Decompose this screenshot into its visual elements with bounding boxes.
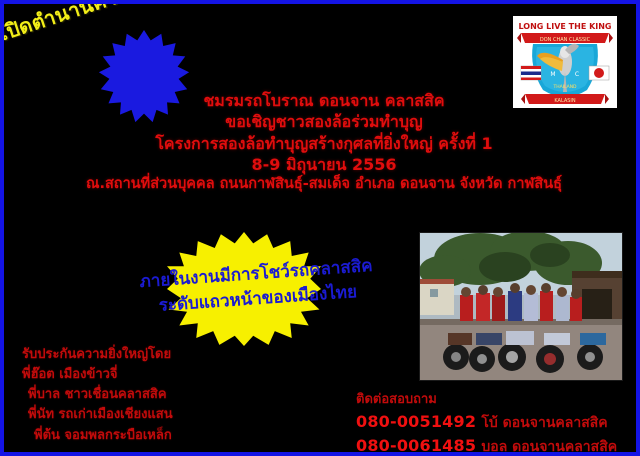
credits-heading: รับประกันความยิ่งใหญ่โดย — [22, 345, 173, 365]
contact-entry-1: 080-0051492 โบ้ ดอนจานคลาสสิค — [356, 410, 617, 434]
contact-name-2: บอล ดอนจานคลาสสิค — [481, 439, 617, 455]
svg-text:M: M — [550, 71, 555, 78]
poster: เปิดตำนานความยิ่งใหญ่อีกครั้ง ชมรมรถโบรา… — [0, 0, 640, 456]
contact-heading: ติดต่อสอบถาม — [356, 390, 617, 410]
project-title-line: โครงการสองล้อทำบุญสร้างกุศลที่ยิ่งใหญ่ ค… — [4, 133, 640, 154]
credits-block: รับประกันความยิ่งใหญ่โดย พี่ฮ๊อต เมืองข้… — [22, 345, 173, 446]
event-date-line: 8-9 มิถุนายน 2556 — [4, 154, 640, 175]
slogan-block: ภายในงานมีการโชว์รถคลาสสิค ระดับแถวหน้าข… — [111, 252, 404, 321]
contact-phone-1[interactable]: 080-0051492 — [356, 412, 476, 431]
svg-text:DON CHAN CLASSIC: DON CHAN CLASSIC — [540, 37, 591, 43]
svg-text:THAILAND: THAILAND — [552, 84, 577, 90]
event-location-line: ณ.สถานที่ส่วนบุคคล ถนนกาฬสินธุ์-สมเด็จ อ… — [4, 175, 640, 194]
logo-top-text: LONG LIVE THE KING — [518, 22, 611, 31]
contact-name-1: โบ้ ดอนจานคลาสสิค — [481, 415, 607, 431]
contact-entry-2: 080-0061485 บอล ดอนจานคลาสสิค — [356, 434, 617, 456]
event-photo — [419, 232, 623, 381]
contact-block: ติดต่อสอบถาม 080-0051492 โบ้ ดอนจานคลาสส… — [356, 390, 617, 456]
contact-phone-2[interactable]: 080-0061485 — [356, 436, 476, 455]
svg-text:C: C — [575, 71, 579, 78]
credit-item-4: พี่ต้น จอมพลกระบือเหล็ก — [22, 426, 173, 446]
credit-item-2: พี่บาล ชาวเชื่อนคลาสสิค — [22, 385, 173, 405]
svg-text:KALASIN: KALASIN — [554, 98, 576, 104]
invitation-line: ขอเชิญชาวสองล้อร่วมทำบุญ — [4, 111, 640, 132]
credit-item-1: พี่ฮ๊อต เมืองข้าวจี่ — [22, 365, 173, 385]
long-live-the-king-logo: LONG LIVE THE KING DON CHAN CLASSIC M C … — [513, 16, 617, 108]
credit-item-3: พี่นัท รถเก่าเมืองเชียงแสน — [22, 405, 173, 425]
